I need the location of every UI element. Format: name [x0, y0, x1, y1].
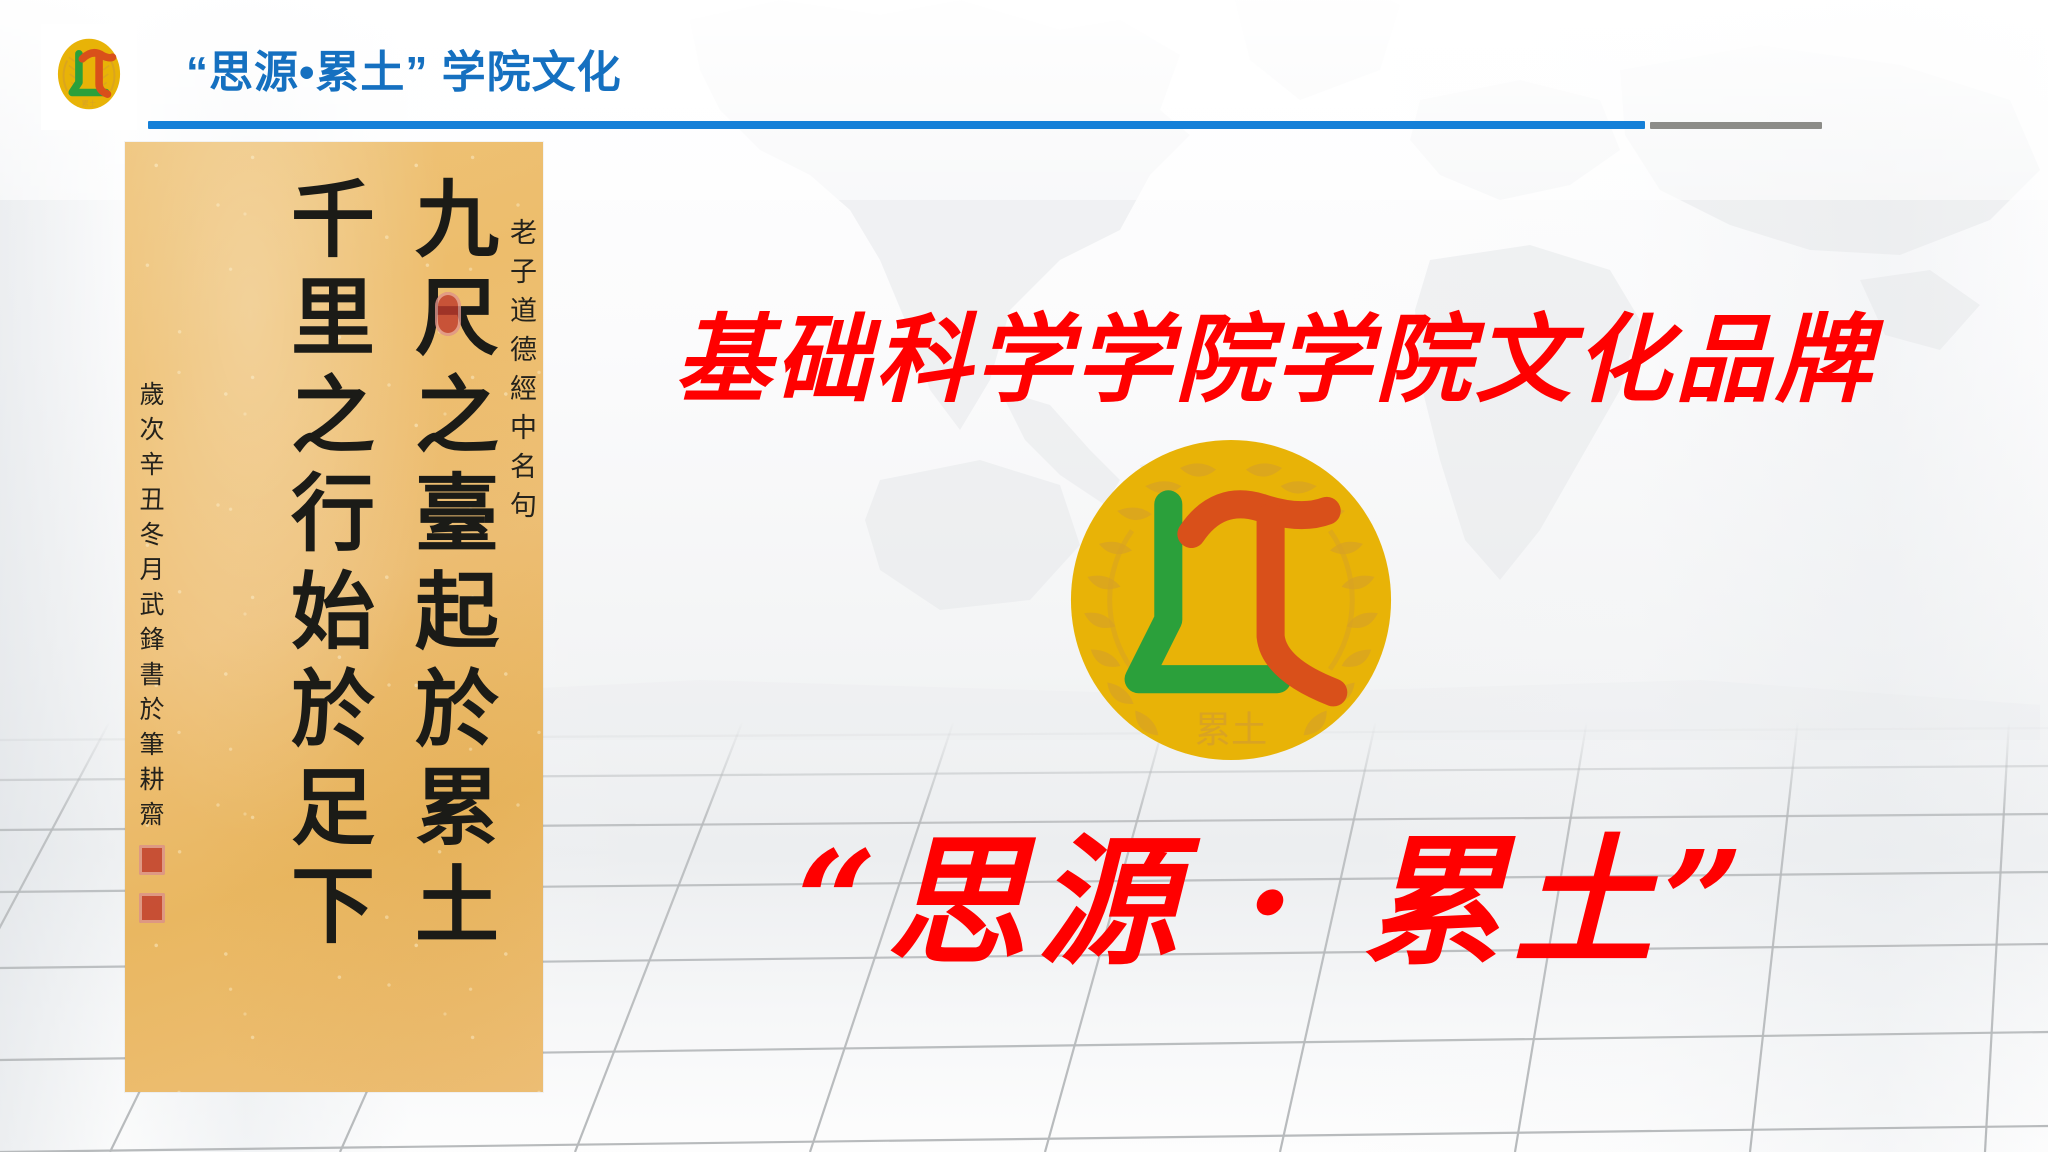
academy-emblem-icon: 累土 — [47, 32, 131, 122]
main-title: 基础科学学院学院文化品牌 — [560, 282, 1990, 421]
culture-slogan: “思源 · 累土” — [560, 790, 1990, 992]
header-divider-secondary — [1650, 122, 1822, 129]
scroll-side-inscription: 老 子 道 德 經 中 名 句 — [510, 220, 537, 532]
center-academy-emblem: 累土 — [1066, 435, 1396, 765]
scroll-column-left: 千 里 之 行 始 於 足 下 — [291, 178, 375, 962]
artist-seal-oval — [435, 292, 461, 336]
slide-canvas: 累土 “思源•累土” 学院文化 九 尺 之 臺 起 於 累 土 千 里 之 行 … — [0, 0, 2048, 1152]
artist-seal-2 — [139, 893, 165, 923]
calligraphy-scroll-image: 九 尺 之 臺 起 於 累 土 千 里 之 行 始 於 足 下 老 子 道 德 … — [125, 142, 543, 1092]
header-logo: 累土 — [41, 24, 137, 130]
header-divider-primary — [148, 121, 1645, 129]
emblem-bottom-text: 累土 — [1195, 708, 1268, 751]
artist-seal-1 — [139, 845, 165, 875]
svg-text:累土: 累土 — [81, 98, 97, 108]
slide-header: 累土 “思源•累土” 学院文化 — [0, 0, 2048, 140]
page-title: “思源•累土” 学院文化 — [186, 36, 622, 100]
scroll-signature-column: 歲 次 辛 丑 冬 月 武 鋒 書 於 筆 耕 齋 — [139, 382, 165, 933]
